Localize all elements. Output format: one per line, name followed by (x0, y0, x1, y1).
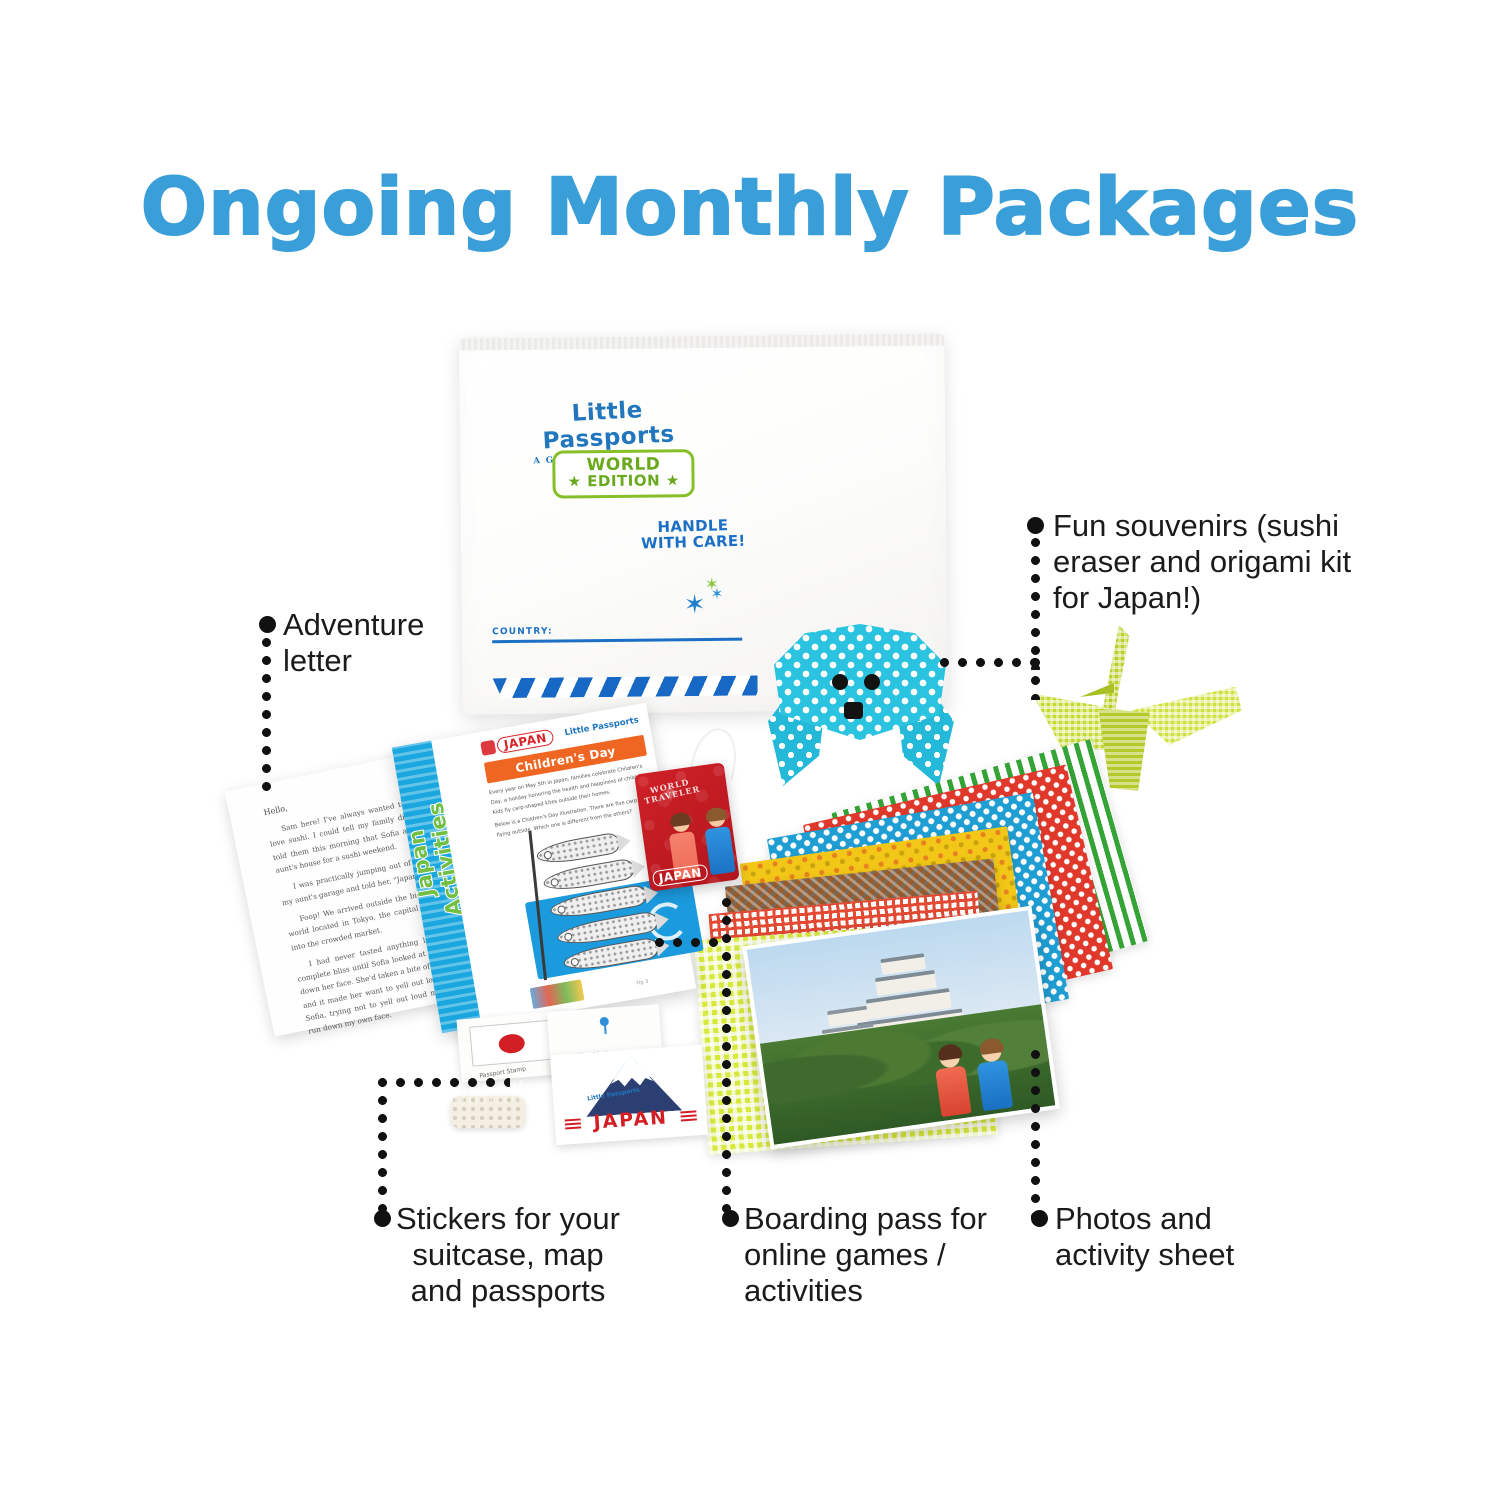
dog-nose (844, 702, 863, 719)
callout-line: Photos and (1055, 1201, 1234, 1237)
japan-stamp-label: JAPAN (496, 728, 555, 754)
page-title: Ongoing Monthly Packages (0, 163, 1500, 253)
callout-line: letter (283, 643, 424, 679)
handle-with-care-text: HANDLE WITH CARE! (633, 517, 754, 552)
tag-kid-boy (702, 808, 737, 875)
connector-photos (1031, 1050, 1040, 1220)
mount-fuji-sticker: Little Passports JAPAN (550, 1045, 708, 1145)
callout-line: activities (744, 1273, 987, 1309)
connector-fun-souvenirs-to-dog (940, 658, 1036, 667)
callout-bullet (259, 616, 276, 633)
callout-line: Boarding pass for (744, 1201, 987, 1237)
map-pin-icon (599, 1017, 609, 1027)
photo-image (747, 910, 1056, 1145)
callout-bullet (1031, 1210, 1048, 1227)
country-field: COUNTRY: (492, 624, 782, 643)
airmail-stripe-border (493, 675, 758, 698)
callout-bullet (722, 1210, 739, 1227)
callout-stickers: Stickers for your suitcase, map and pass… (396, 1201, 620, 1309)
poster-stage: Ongoing Monthly Packages Little Passport… (0, 0, 1500, 1500)
star-icon: ✶ (711, 585, 724, 603)
connector-fun-souvenirs-vertical (1031, 520, 1040, 670)
fuji-sticker-word: JAPAN (564, 1104, 697, 1135)
sun-icon (637, 1060, 653, 1076)
envelope-seal (459, 333, 944, 350)
star-icon: ✶ (684, 589, 706, 620)
japan-flag-icon (469, 1020, 554, 1067)
photo-children (932, 1032, 1016, 1118)
japan-photo (742, 906, 1060, 1150)
stripe-icon (564, 1116, 581, 1131)
callout-line: and passports (396, 1273, 620, 1309)
callout-adventure-letter: Adventure letter (283, 607, 424, 679)
callout-line: Adventure (283, 607, 424, 643)
dog-eye-right (864, 674, 880, 690)
fuji-sticker-country: JAPAN (593, 1106, 669, 1133)
callout-line: eraser and origami kit (1053, 544, 1351, 580)
flag-red-circle (498, 1033, 526, 1054)
callout-line: Fun souvenirs (sushi (1053, 508, 1351, 544)
callout-line: online games / (744, 1237, 987, 1273)
callout-line: Stickers for your (396, 1201, 620, 1237)
activity-sheet-brand: Little Passports (564, 715, 640, 738)
callout-boarding-pass: Boarding pass for online games / activit… (744, 1201, 987, 1309)
star-decoration: ✶ ✶ ✶ (684, 575, 734, 614)
cherry-blossom-icon (480, 740, 496, 756)
callout-fun-souvenirs: Fun souvenirs (sushi eraser and origami … (1053, 508, 1351, 616)
callout-bullet (374, 1210, 391, 1227)
activity-sheet-figure-label: Fig 3 (636, 979, 649, 987)
world-edition-badge: WORLD ★ EDITION ★ (552, 449, 695, 498)
boarding-pass-luggage-tag: ✦ WORLD TRAVELER JAPAN (634, 762, 740, 891)
connector-stickers-vertical (378, 1078, 387, 1216)
connector-boarding-pass-horizontal (655, 938, 727, 947)
connector-fun-souvenirs-to-crane (1031, 658, 1040, 700)
callout-line: suitcase, map (396, 1237, 620, 1273)
country-label: COUNTRY: (492, 624, 782, 637)
handle-line-2: WITH CARE! (633, 533, 753, 552)
stripe-icon (680, 1108, 697, 1123)
badge-line-2: ★ EDITION ★ (567, 474, 679, 490)
connector-adventure-letter (262, 620, 271, 800)
callout-line: activity sheet (1055, 1237, 1234, 1273)
brand-name: Little Passports (507, 394, 710, 457)
country-write-line (492, 638, 742, 643)
connector-stickers-horizontal (378, 1078, 510, 1087)
crane-neck (1100, 625, 1134, 717)
origami-dog (760, 616, 960, 781)
callout-photos: Photos and activity sheet (1055, 1201, 1234, 1273)
callout-line: for Japan!) (1053, 580, 1351, 616)
callout-bullet (1027, 517, 1044, 534)
dog-eye-left (832, 674, 848, 690)
